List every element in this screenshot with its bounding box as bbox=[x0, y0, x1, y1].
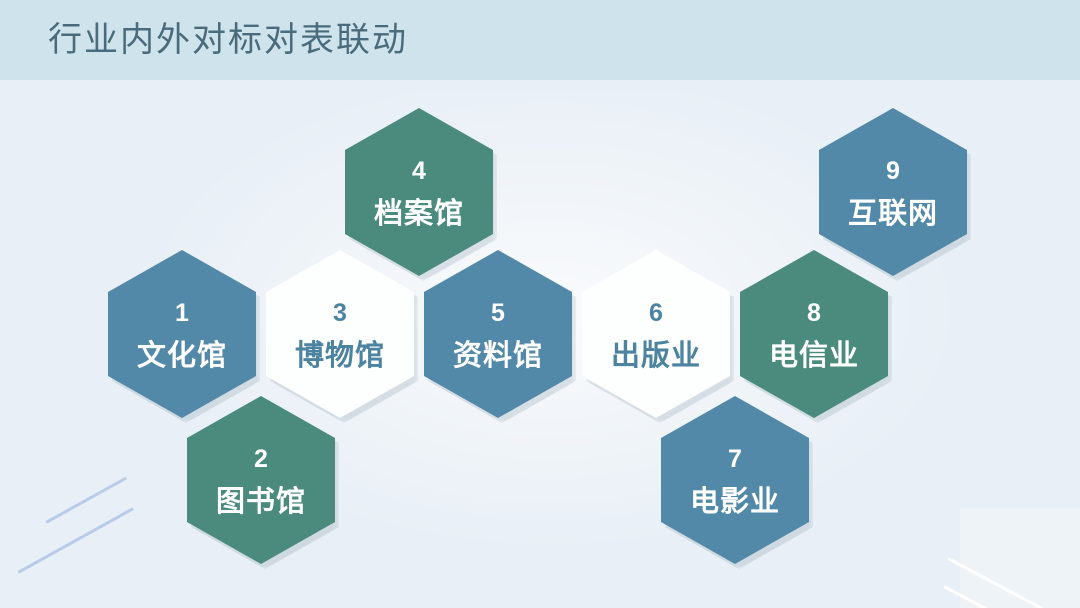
hexagon-label: 互联网 bbox=[848, 200, 938, 229]
slide-canvas: 行业内外对标对表联动 1文化馆2图书馆3博物馆4档案馆5资料馆6出版业7电影业8… bbox=[0, 0, 1080, 608]
hexagon-label: 电影业 bbox=[690, 488, 780, 517]
hexagon-label: 出版业 bbox=[611, 342, 701, 371]
bottom-right-panel bbox=[960, 508, 1080, 608]
hexagon-number: 8 bbox=[807, 301, 821, 326]
hexagon-label: 博物馆 bbox=[295, 342, 385, 371]
page-title: 行业内外对标对表联动 bbox=[48, 12, 408, 68]
hexagon-label: 档案馆 bbox=[374, 200, 464, 229]
hexagon-number: 3 bbox=[333, 301, 347, 326]
hexagon-label: 文化馆 bbox=[137, 342, 227, 371]
hexagon-number: 7 bbox=[728, 447, 742, 472]
hexagon-label: 资料馆 bbox=[453, 342, 543, 371]
hexagon-label: 电信业 bbox=[769, 342, 859, 371]
hexagon-number: 4 bbox=[412, 159, 426, 184]
decor-line-bottom-left-1 bbox=[17, 507, 134, 574]
hexagon-number: 9 bbox=[886, 159, 900, 184]
hexagon-number: 6 bbox=[649, 301, 663, 326]
hexagon-label: 图书馆 bbox=[216, 488, 306, 517]
hexagon-number: 1 bbox=[175, 301, 189, 326]
hexagon-number: 2 bbox=[254, 447, 268, 472]
hexagon-number: 5 bbox=[491, 301, 505, 326]
